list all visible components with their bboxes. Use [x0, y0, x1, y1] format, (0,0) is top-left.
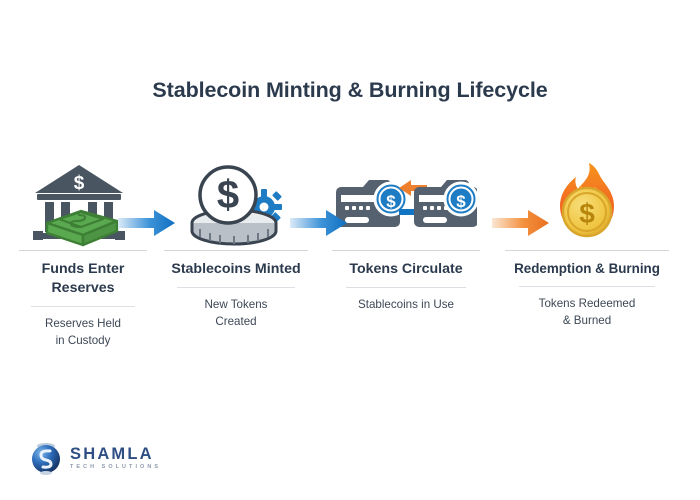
step-subtitle: Tokens Redeemed & Burned [492, 287, 682, 330]
page-title: Stablecoin Minting & Burning Lifecycle [0, 78, 700, 103]
svg-text:$: $ [386, 192, 396, 211]
step-label: Tokens Circulate [320, 251, 492, 287]
step-sub-line: & Burned [563, 314, 611, 327]
shamla-sphere-icon [28, 440, 64, 476]
lifecycle-steps: $ Funds Enter Reserves Reserves Held [0, 158, 700, 358]
step-label: Stablecoins Minted [152, 251, 320, 287]
svg-text:$: $ [456, 192, 466, 211]
logo-company-name: SHAMLA [70, 446, 161, 463]
step-sub-line: New Tokens [205, 298, 268, 311]
logo-text: SHAMLA TECH SOLUTIONS [70, 446, 161, 471]
flow-arrow-2-icon [290, 208, 348, 243]
infographic-page: Stablecoin Minting & Burning Lifecycle $ [0, 0, 700, 500]
step-funds-enter-reserves[interactable]: $ Funds Enter Reserves Reserves Held [0, 158, 152, 358]
step-subtitle: New Tokens Created [152, 288, 320, 331]
step-sub-line: Tokens Redeemed [539, 297, 636, 310]
company-logo[interactable]: SHAMLA TECH SOLUTIONS [28, 440, 161, 476]
step-subtitle: Reserves Held in Custody [14, 307, 152, 350]
step-label: Redemption & Burning [492, 251, 682, 286]
flow-arrow-1-icon [118, 208, 176, 243]
step-sub-line: Created [215, 315, 256, 328]
step-redemption-burning[interactable]: $ Redemption & Burning Tokens Redeemed &… [492, 158, 682, 358]
step-label-line: Stablecoins Minted [171, 261, 300, 277]
flow-arrow-3-icon [492, 208, 550, 243]
logo-tagline: TECH SOLUTIONS [70, 465, 161, 470]
step-subtitle: Stablecoins in Use [320, 288, 492, 314]
step-label-line: Funds Enter [42, 261, 125, 277]
step-label: Funds Enter Reserves [14, 251, 152, 306]
step-label-line: Redemption & Burning [514, 261, 660, 276]
step-sub-line: Stablecoins in Use [358, 298, 454, 311]
step-sub-line: Reserves Held [45, 317, 121, 330]
svg-text:$: $ [74, 173, 85, 194]
step-tokens-circulate[interactable]: $ [320, 158, 492, 358]
step-sub-line: in Custody [56, 334, 111, 347]
step-label-line: Tokens Circulate [349, 261, 462, 277]
step-label-line: Reserves [51, 280, 114, 296]
svg-text:$: $ [579, 198, 595, 229]
svg-text:$: $ [217, 173, 239, 217]
step-stablecoins-minted[interactable]: $ Stablecoins Minted New Tokens Created [152, 158, 320, 358]
